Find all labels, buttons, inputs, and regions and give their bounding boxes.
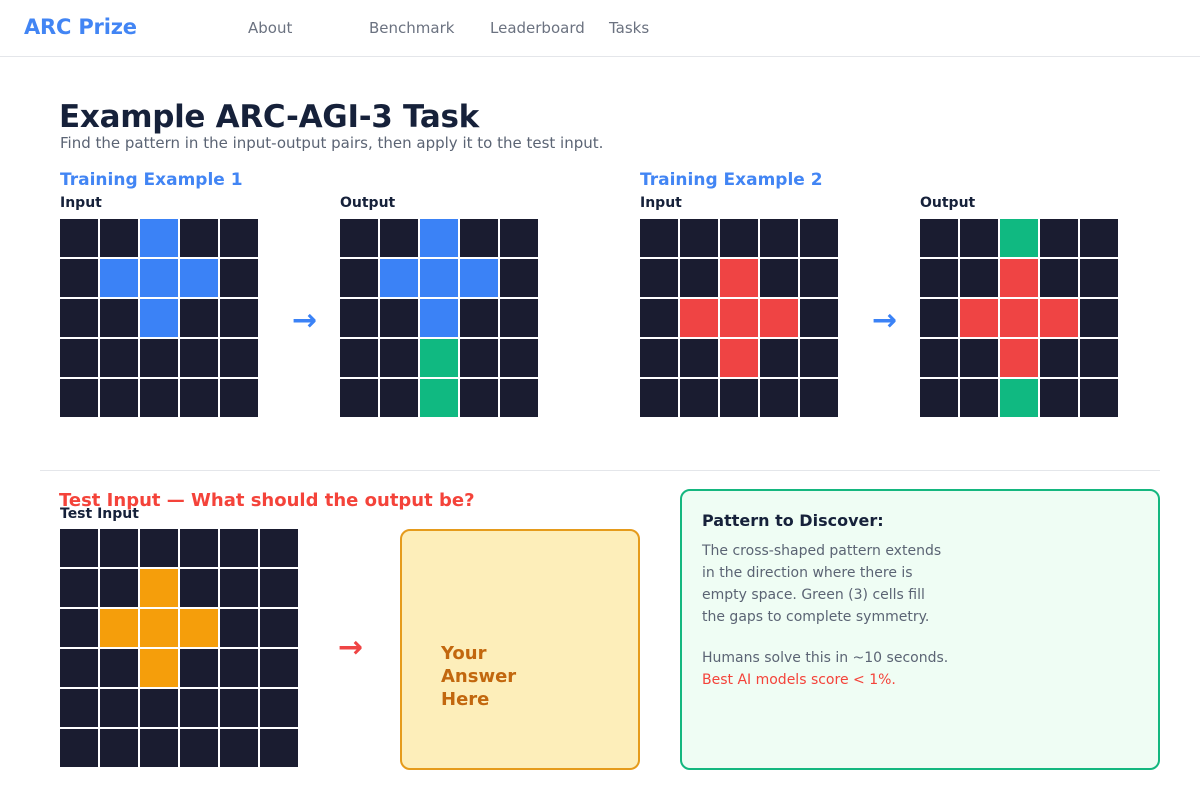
grid-cell [760, 219, 798, 257]
grid-cell [500, 259, 538, 297]
grid-cell [1040, 219, 1078, 257]
grid-cell [460, 379, 498, 417]
grid-cell [140, 379, 178, 417]
grid-cell [960, 379, 998, 417]
grid-cell [460, 219, 498, 257]
grid-cell [1080, 299, 1118, 337]
training-example-1-title: Training Example 1 [60, 170, 243, 190]
training-example-2-title: Training Example 2 [640, 170, 823, 190]
grid-cell [800, 259, 838, 297]
section-divider [40, 470, 1160, 471]
nav-link-benchmark[interactable]: Benchmark [369, 19, 454, 37]
grid-cell [1080, 219, 1118, 257]
grid-cell [340, 339, 378, 377]
grid-cell [140, 729, 178, 767]
grid-cell [920, 299, 958, 337]
grid-cell [220, 529, 258, 567]
grid-cell [640, 339, 678, 377]
grid-cell [260, 529, 298, 567]
grid-cell [260, 729, 298, 767]
grid-cell [140, 259, 178, 297]
site-header: ARC Prize About Benchmark Leaderboard Ta… [0, 0, 1200, 57]
grid-cell [760, 379, 798, 417]
grid-cell [180, 219, 218, 257]
pattern-panel-human-stat: Humans solve this in ~10 seconds. [702, 650, 948, 666]
grid-cell [220, 299, 258, 337]
grid-cell [220, 569, 258, 607]
grid-cell [800, 299, 838, 337]
grid-cell [100, 729, 138, 767]
grid-cell [100, 569, 138, 607]
grid-cell [260, 689, 298, 727]
grid-cell [260, 569, 298, 607]
test-input-label: Test Input [60, 506, 139, 522]
grid-cell [460, 259, 498, 297]
grid-cell [380, 299, 418, 337]
page-title: Example ARC-AGI-3 Task [59, 99, 479, 135]
grid-cell [140, 529, 178, 567]
grid-cell [100, 609, 138, 647]
grid-cell [220, 339, 258, 377]
grid-cell [60, 339, 98, 377]
training-example-1-input-label: Input [60, 195, 102, 211]
grid-cell [720, 299, 758, 337]
grid-cell [60, 649, 98, 687]
grid-cell [100, 649, 138, 687]
nav-link-tasks[interactable]: Tasks [609, 19, 649, 37]
grid-cell [500, 299, 538, 337]
grid-cell [340, 219, 378, 257]
grid-cell [340, 379, 378, 417]
grid-cell [140, 649, 178, 687]
grid-cell [720, 379, 758, 417]
grid-cell [220, 259, 258, 297]
arrow-right-icon: → [338, 633, 363, 663]
pattern-panel-body: The cross-shaped pattern extends in the … [702, 540, 1132, 628]
pattern-panel-heading: Pattern to Discover: [702, 511, 884, 530]
grid-cell [920, 259, 958, 297]
answer-dropzone[interactable]: Your Answer Here [400, 529, 640, 770]
grid-cell [180, 609, 218, 647]
grid-cell [500, 219, 538, 257]
grid-cell [500, 339, 538, 377]
training-example-1-input-grid [60, 219, 258, 417]
grid-cell [800, 339, 838, 377]
test-input-grid [60, 529, 298, 767]
grid-cell [260, 649, 298, 687]
grid-cell [380, 219, 418, 257]
grid-cell [100, 689, 138, 727]
grid-cell [720, 339, 758, 377]
grid-cell [100, 379, 138, 417]
grid-cell [460, 299, 498, 337]
grid-cell [920, 379, 958, 417]
grid-cell [220, 649, 258, 687]
grid-cell [680, 259, 718, 297]
grid-cell [960, 259, 998, 297]
grid-cell [220, 219, 258, 257]
grid-cell [1040, 339, 1078, 377]
grid-cell [500, 379, 538, 417]
grid-cell [60, 379, 98, 417]
grid-cell [1000, 339, 1038, 377]
grid-cell [100, 259, 138, 297]
grid-cell [1000, 379, 1038, 417]
grid-cell [100, 219, 138, 257]
grid-cell [60, 729, 98, 767]
nav-link-about[interactable]: About [248, 19, 292, 37]
grid-cell [420, 219, 458, 257]
grid-cell [180, 339, 218, 377]
grid-cell [960, 219, 998, 257]
page-subtitle: Find the pattern in the input-output pai… [60, 134, 603, 152]
grid-cell [640, 219, 678, 257]
training-example-2-output-label: Output [920, 195, 975, 211]
grid-cell [460, 339, 498, 377]
grid-cell [60, 259, 98, 297]
grid-cell [1000, 299, 1038, 337]
grid-cell [420, 339, 458, 377]
answer-placeholder-text: Your Answer Here [441, 642, 516, 711]
grid-cell [920, 219, 958, 257]
grid-cell [60, 299, 98, 337]
grid-cell [420, 299, 458, 337]
grid-cell [220, 609, 258, 647]
grid-cell [760, 259, 798, 297]
grid-cell [380, 339, 418, 377]
grid-cell [180, 299, 218, 337]
grid-cell [640, 259, 678, 297]
training-example-1-output-label: Output [340, 195, 395, 211]
grid-cell [100, 299, 138, 337]
grid-cell [1000, 219, 1038, 257]
grid-cell [680, 219, 718, 257]
grid-cell [1080, 259, 1118, 297]
grid-cell [680, 299, 718, 337]
grid-cell [1080, 379, 1118, 417]
grid-cell [720, 219, 758, 257]
grid-cell [140, 689, 178, 727]
training-example-2-output-grid [920, 219, 1118, 417]
arrow-right-icon: → [292, 306, 317, 336]
grid-cell [760, 339, 798, 377]
grid-cell [1040, 379, 1078, 417]
training-example-2-input-label: Input [640, 195, 682, 211]
grid-cell [800, 219, 838, 257]
training-example-1-output-grid [340, 219, 538, 417]
grid-cell [60, 219, 98, 257]
grid-cell [180, 569, 218, 607]
grid-cell [680, 379, 718, 417]
grid-cell [180, 649, 218, 687]
grid-cell [920, 339, 958, 377]
pattern-panel-ai-stat: Best AI models score < 1%. [702, 672, 896, 688]
grid-cell [380, 259, 418, 297]
grid-cell [260, 609, 298, 647]
grid-cell [340, 259, 378, 297]
grid-cell [220, 689, 258, 727]
grid-cell [380, 379, 418, 417]
grid-cell [340, 299, 378, 337]
pattern-to-discover-panel: Pattern to Discover: The cross-shaped pa… [680, 489, 1160, 770]
grid-cell [960, 299, 998, 337]
grid-cell [180, 529, 218, 567]
grid-cell [60, 689, 98, 727]
grid-cell [100, 339, 138, 377]
grid-cell [420, 379, 458, 417]
grid-cell [1040, 259, 1078, 297]
nav-link-leaderboard[interactable]: Leaderboard [490, 19, 585, 37]
training-example-2-input-grid [640, 219, 838, 417]
grid-cell [140, 339, 178, 377]
grid-cell [800, 379, 838, 417]
grid-cell [1000, 259, 1038, 297]
grid-cell [220, 379, 258, 417]
grid-cell [640, 299, 678, 337]
grid-cell [420, 259, 458, 297]
grid-cell [140, 609, 178, 647]
grid-cell [60, 609, 98, 647]
arrow-right-icon: → [872, 306, 897, 336]
grid-cell [1040, 299, 1078, 337]
grid-cell [220, 729, 258, 767]
grid-cell [180, 379, 218, 417]
grid-cell [720, 259, 758, 297]
grid-cell [180, 689, 218, 727]
grid-cell [680, 339, 718, 377]
grid-cell [640, 379, 678, 417]
grid-cell [140, 219, 178, 257]
grid-cell [60, 529, 98, 567]
grid-cell [180, 259, 218, 297]
grid-cell [100, 529, 138, 567]
grid-cell [60, 569, 98, 607]
grid-cell [960, 339, 998, 377]
grid-cell [140, 299, 178, 337]
grid-cell [1080, 339, 1118, 377]
brand-logo[interactable]: ARC Prize [24, 15, 137, 39]
grid-cell [140, 569, 178, 607]
grid-cell [760, 299, 798, 337]
grid-cell [180, 729, 218, 767]
